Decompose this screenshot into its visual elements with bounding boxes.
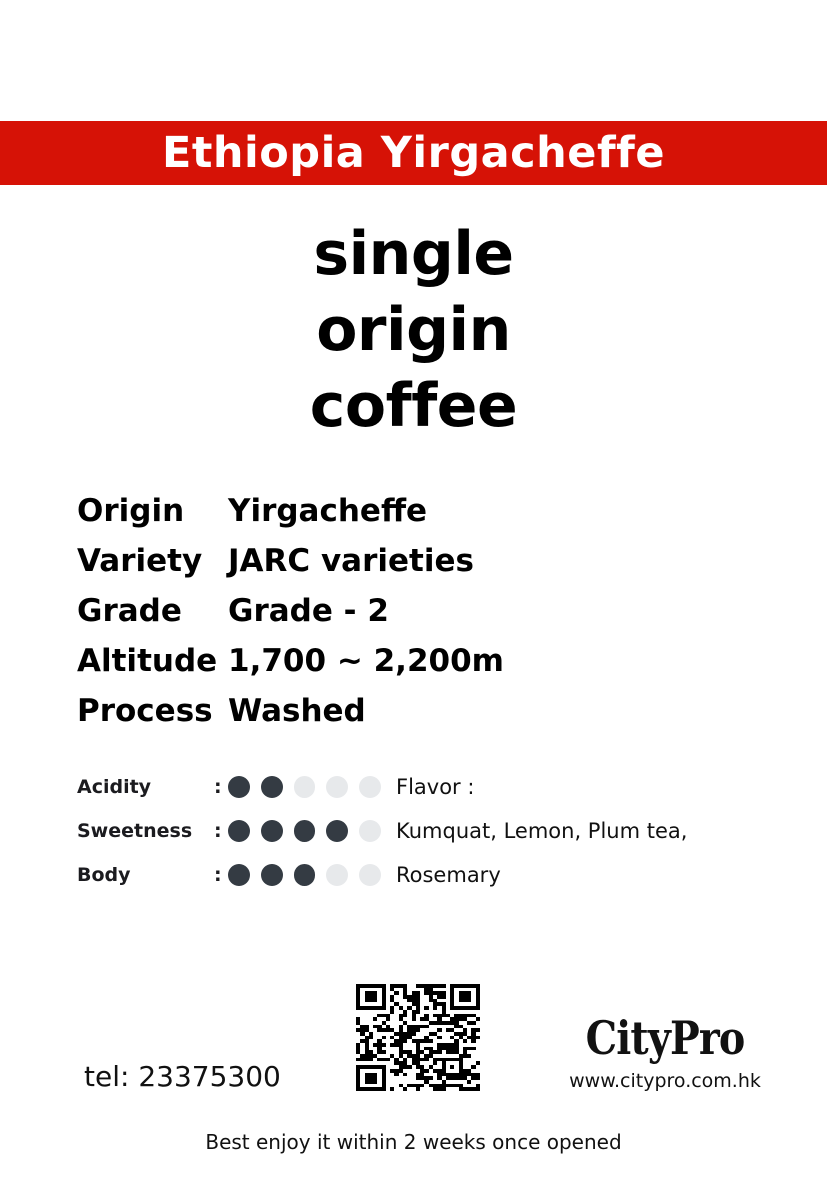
rating-dots-body [228,864,392,886]
rating-dot-filled [326,820,348,842]
rating-colon-body: : [214,864,228,886]
rating-label-body: Body [77,864,214,886]
rating-dot-filled [261,820,283,842]
rating-label-acidity: Acidity [77,776,214,798]
flavor-notes-line-1: Kumquat, Lemon, Plum tea, [392,819,687,843]
spec-list: Origin Yirgacheffe Variety JARC varietie… [77,486,777,736]
rating-dots-sweetness [228,820,392,842]
rating-dot-filled [294,820,316,842]
rating-dot-filled [228,864,250,886]
rating-dot-empty [359,820,381,842]
spec-row-variety: Variety JARC varieties [77,536,777,586]
rating-label-sweetness: Sweetness [77,820,214,842]
telephone: tel: 23375300 [84,1060,281,1093]
rating-dot-filled [294,864,316,886]
spec-label-grade: Grade [77,586,228,636]
rating-row-body: Body : Rosemary [77,853,777,897]
rating-dot-empty [326,864,348,886]
rating-dot-empty [326,776,348,798]
spec-row-altitude: Altitude 1,700 ~ 2,200m [77,636,777,686]
rating-dot-empty [359,864,381,886]
qr-code[interactable] [356,984,480,1091]
spec-value-process: Washed [228,686,366,736]
hero-line-3: coffee [0,368,827,444]
hero-line-2: origin [0,292,827,368]
rating-dot-empty [359,776,381,798]
rating-colon-acidity: : [214,776,228,798]
spec-label-process: Process [77,686,228,736]
spec-value-grade: Grade - 2 [228,586,389,636]
product-title: Ethiopia Yirgacheffe [162,132,665,175]
spec-value-altitude: 1,700 ~ 2,200m [228,636,504,686]
brand-logo: CityPro [558,1012,773,1064]
rating-dot-empty [294,776,316,798]
spec-value-variety: JARC varieties [228,536,474,586]
hero-heading: single origin coffee [0,216,827,444]
title-banner: Ethiopia Yirgacheffe [0,121,827,185]
rating-dot-filled [228,820,250,842]
spec-label-variety: Variety [77,536,228,586]
brand-block: CityPro www.citypro.com.hk [540,1012,790,1094]
spec-row-process: Process Washed [77,686,777,736]
flavor-heading: Flavor : [392,775,474,799]
rating-dot-filled [261,864,283,886]
hero-line-1: single [0,216,827,292]
spec-label-altitude: Altitude [77,636,228,686]
spec-label-origin: Origin [77,486,228,536]
rating-row-sweetness: Sweetness : Kumquat, Lemon, Plum tea, [77,809,777,853]
storage-note: Best enjoy it within 2 weeks once opened [0,1130,827,1154]
brand-website: www.citypro.com.hk [540,1068,790,1094]
rating-colon-sweetness: : [214,820,228,842]
rating-dot-filled [261,776,283,798]
flavor-profile: Acidity : Flavor : Sweetness : Kumquat, … [77,765,777,897]
rating-row-acidity: Acidity : Flavor : [77,765,777,809]
rating-dots-acidity [228,776,392,798]
rating-dot-filled [228,776,250,798]
spec-row-origin: Origin Yirgacheffe [77,486,777,536]
spec-row-grade: Grade Grade - 2 [77,586,777,636]
flavor-notes-line-2: Rosemary [392,863,501,887]
spec-value-origin: Yirgacheffe [228,486,427,536]
